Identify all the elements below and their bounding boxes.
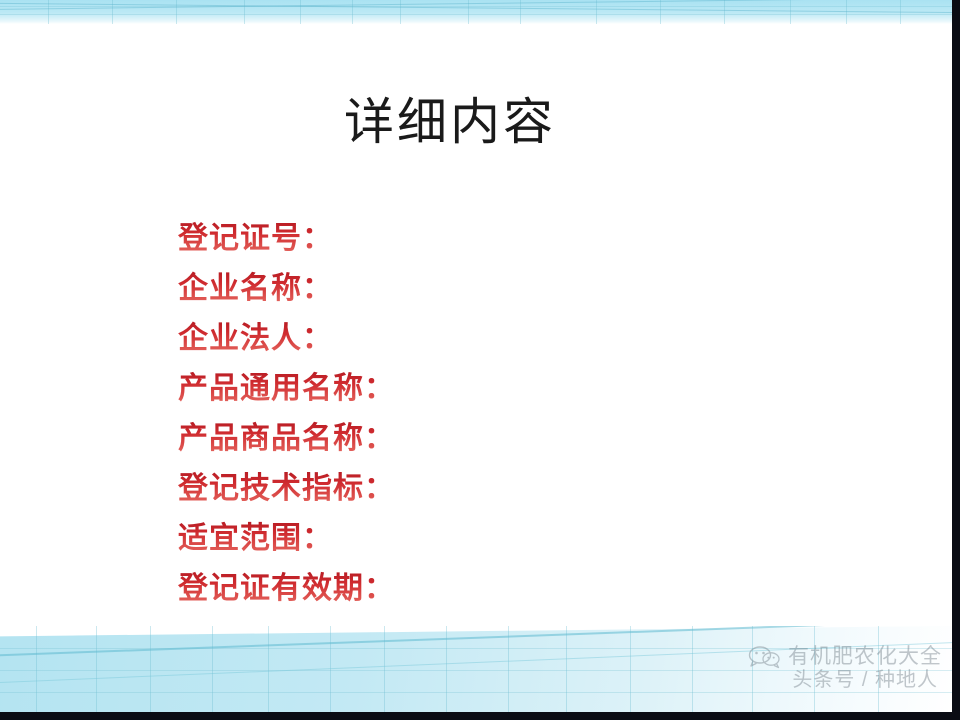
field-label-technical-indicators: 登记技术指标：: [178, 464, 738, 514]
field-label-product-trade-name: 产品商品名称：: [178, 414, 738, 464]
field-label-legal-person: 企业法人：: [178, 314, 738, 364]
watermark-subtitle: 头条号 / 种地人: [712, 667, 942, 693]
watermark: 有机肥农化大全 头条号 / 种地人: [712, 644, 942, 710]
top-decorative-band: [0, 0, 952, 24]
slide-title: 详细内容: [0, 95, 900, 150]
frame-trim-bottom: [0, 712, 960, 720]
field-label-validity-period: 登记证有效期：: [178, 564, 738, 614]
presentation-slide: 详细内容 登记证号： 企业名称： 企业法人： 产品通用名称： 产品商品名称： 登…: [0, 0, 960, 720]
field-label-product-generic-name: 产品通用名称：: [178, 364, 738, 414]
field-label-registration-number: 登记证号：: [178, 214, 738, 264]
frame-trim-right: [952, 0, 960, 720]
field-label-enterprise-name: 企业名称：: [178, 264, 738, 314]
field-label-list: 登记证号： 企业名称： 企业法人： 产品通用名称： 产品商品名称： 登记技术指标…: [178, 214, 738, 614]
wechat-icon: [748, 644, 782, 670]
field-label-suitable-scope: 适宜范围：: [178, 514, 738, 564]
